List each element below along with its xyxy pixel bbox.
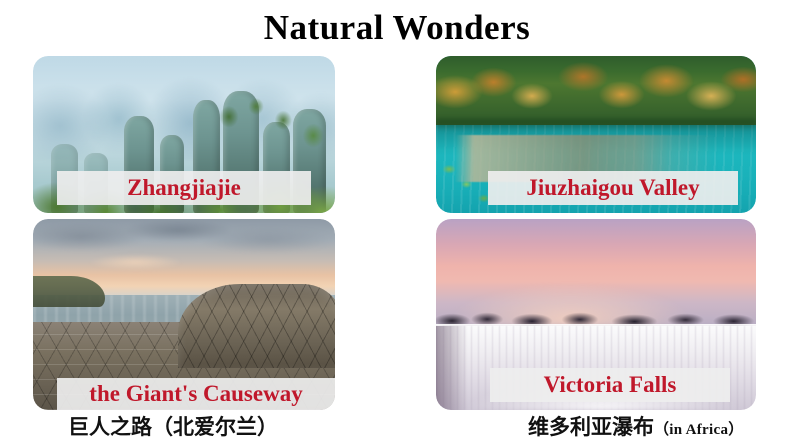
- caption-jiuzhaigou-valley: Jiuzhaigou Valley: [488, 171, 738, 205]
- subtitle-victoria-falls-note: （in Africa）: [654, 422, 744, 438]
- autumn-foliage-layer: [436, 56, 756, 125]
- slide-canvas: Natural Wonders Zhangjiajie: [0, 0, 794, 447]
- photo-card-zhangjiajie[interactable]: Zhangjiajie: [33, 56, 335, 213]
- photo-card-jiuzhaigou-valley[interactable]: Jiuzhaigou Valley: [436, 56, 756, 213]
- caption-zhangjiajie: Zhangjiajie: [57, 171, 311, 205]
- caption-the-giants-causeway: the Giant's Causeway: [57, 378, 335, 410]
- subtitle-victoria-falls: 维多利亚瀑布（in Africa）: [528, 414, 744, 443]
- subtitle-victoria-falls-chinese: 维多利亚瀑布: [528, 415, 654, 439]
- caption-victoria-falls: Victoria Falls: [490, 368, 730, 402]
- photo-card-victoria-falls[interactable]: Victoria Falls: [436, 219, 756, 410]
- photo-card-the-giants-causeway[interactable]: the Giant's Causeway: [33, 219, 335, 410]
- subtitle-the-giants-causeway: 巨人之路（北爱尔兰）: [68, 414, 278, 440]
- page-title: Natural Wonders: [0, 6, 794, 50]
- stack-hexagon-texture-layer: [178, 284, 335, 368]
